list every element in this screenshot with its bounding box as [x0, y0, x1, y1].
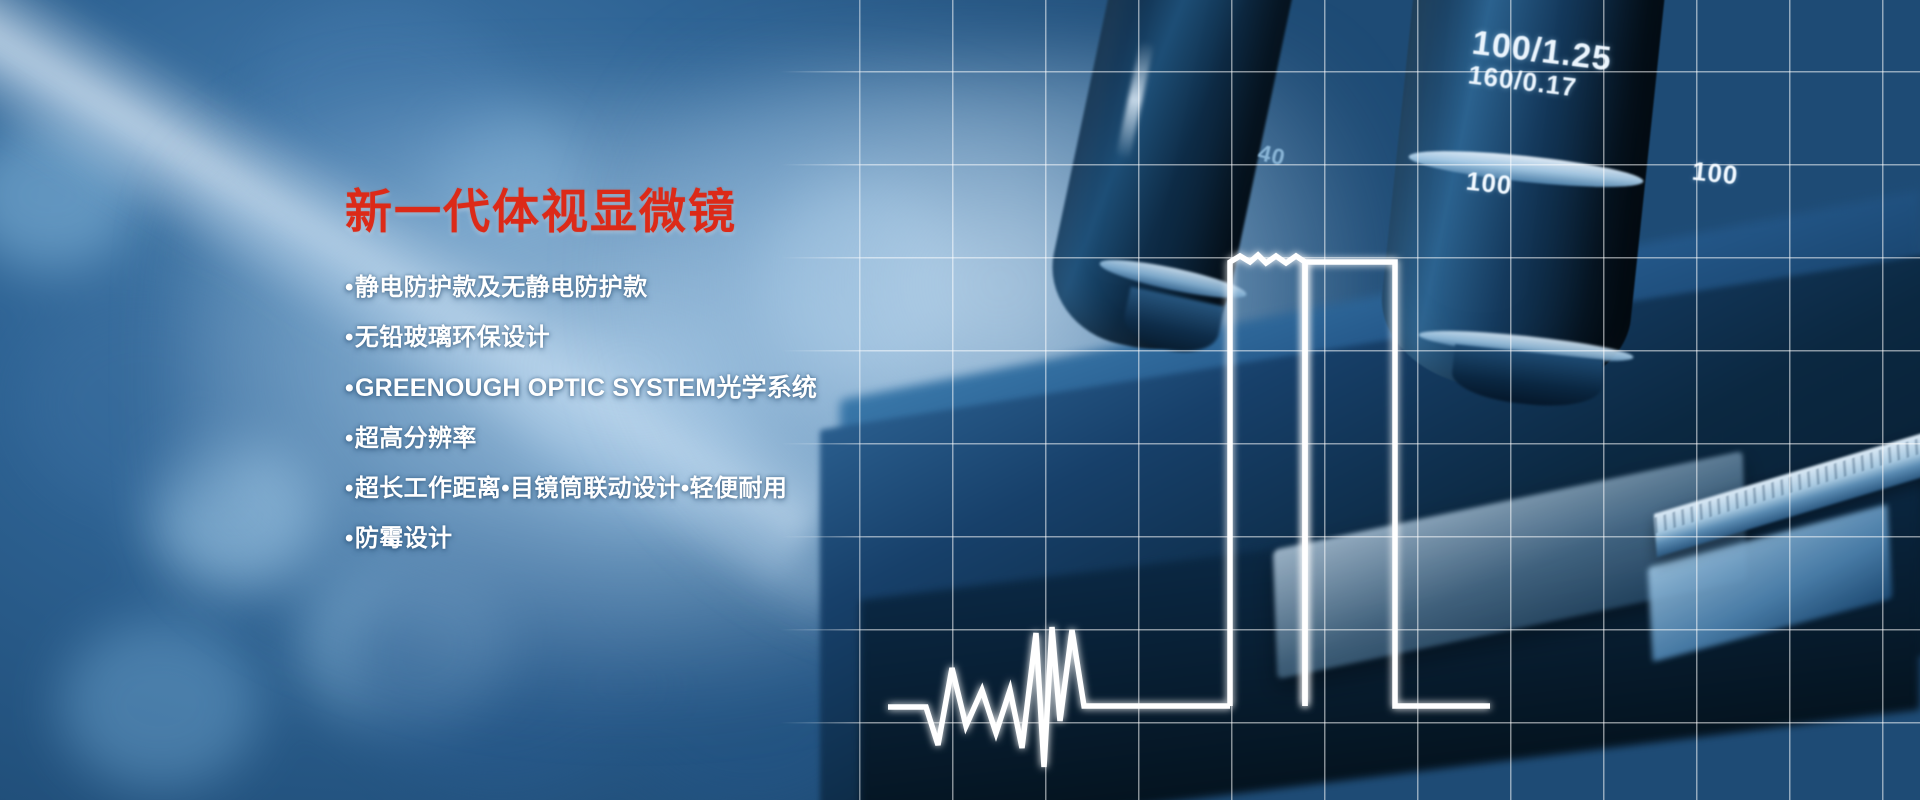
hero-banner: 40 100/1.25 160/0.17 100 100 新一代体视显微镜	[0, 0, 1920, 800]
feature-list: •静电防护款及无静电防护款 •无铅玻璃环保设计 •GREENOUGH OPTIC…	[345, 276, 965, 551]
bullet-icon: •	[345, 475, 354, 502]
feature-item-6-label: 防霉设计	[355, 525, 453, 552]
feature-item-1-label: 静电防护款及无静电防护款	[355, 274, 648, 301]
feature-item-1: •静电防护款及无静电防护款	[345, 276, 965, 300]
bullet-icon: •	[345, 274, 354, 301]
objective-scale-label-left: 100	[1465, 166, 1514, 202]
feature-item-3: •GREENOUGH OPTIC SYSTEM光学系统	[345, 376, 965, 401]
feature-item-4-label: 超高分辨率	[355, 425, 477, 452]
feature-item-5-label: 超长工作距离•目镜筒联动设计•轻便耐用	[355, 475, 787, 502]
feature-item-6: •防霉设计	[345, 527, 965, 551]
feature-item-5: •超长工作距离•目镜筒联动设计•轻便耐用	[345, 477, 965, 501]
bullet-icon: •	[345, 525, 354, 552]
feature-item-2-label: 无铅玻璃环保设计	[355, 324, 550, 351]
bullet-icon: •	[345, 374, 354, 402]
bullet-icon: •	[345, 324, 354, 351]
hero-copy: 新一代体视显微镜 •静电防护款及无静电防护款 •无铅玻璃环保设计 •GREENO…	[345, 186, 965, 577]
bullet-icon: •	[345, 425, 354, 452]
feature-item-4: •超高分辨率	[345, 427, 965, 451]
feature-item-3-label: GREENOUGH OPTIC SYSTEM光学系统	[355, 374, 817, 402]
objective-scale-label-right: 100	[1691, 156, 1740, 192]
page-title: 新一代体视显微镜	[345, 186, 965, 238]
feature-item-2: •无铅玻璃环保设计	[345, 326, 965, 350]
